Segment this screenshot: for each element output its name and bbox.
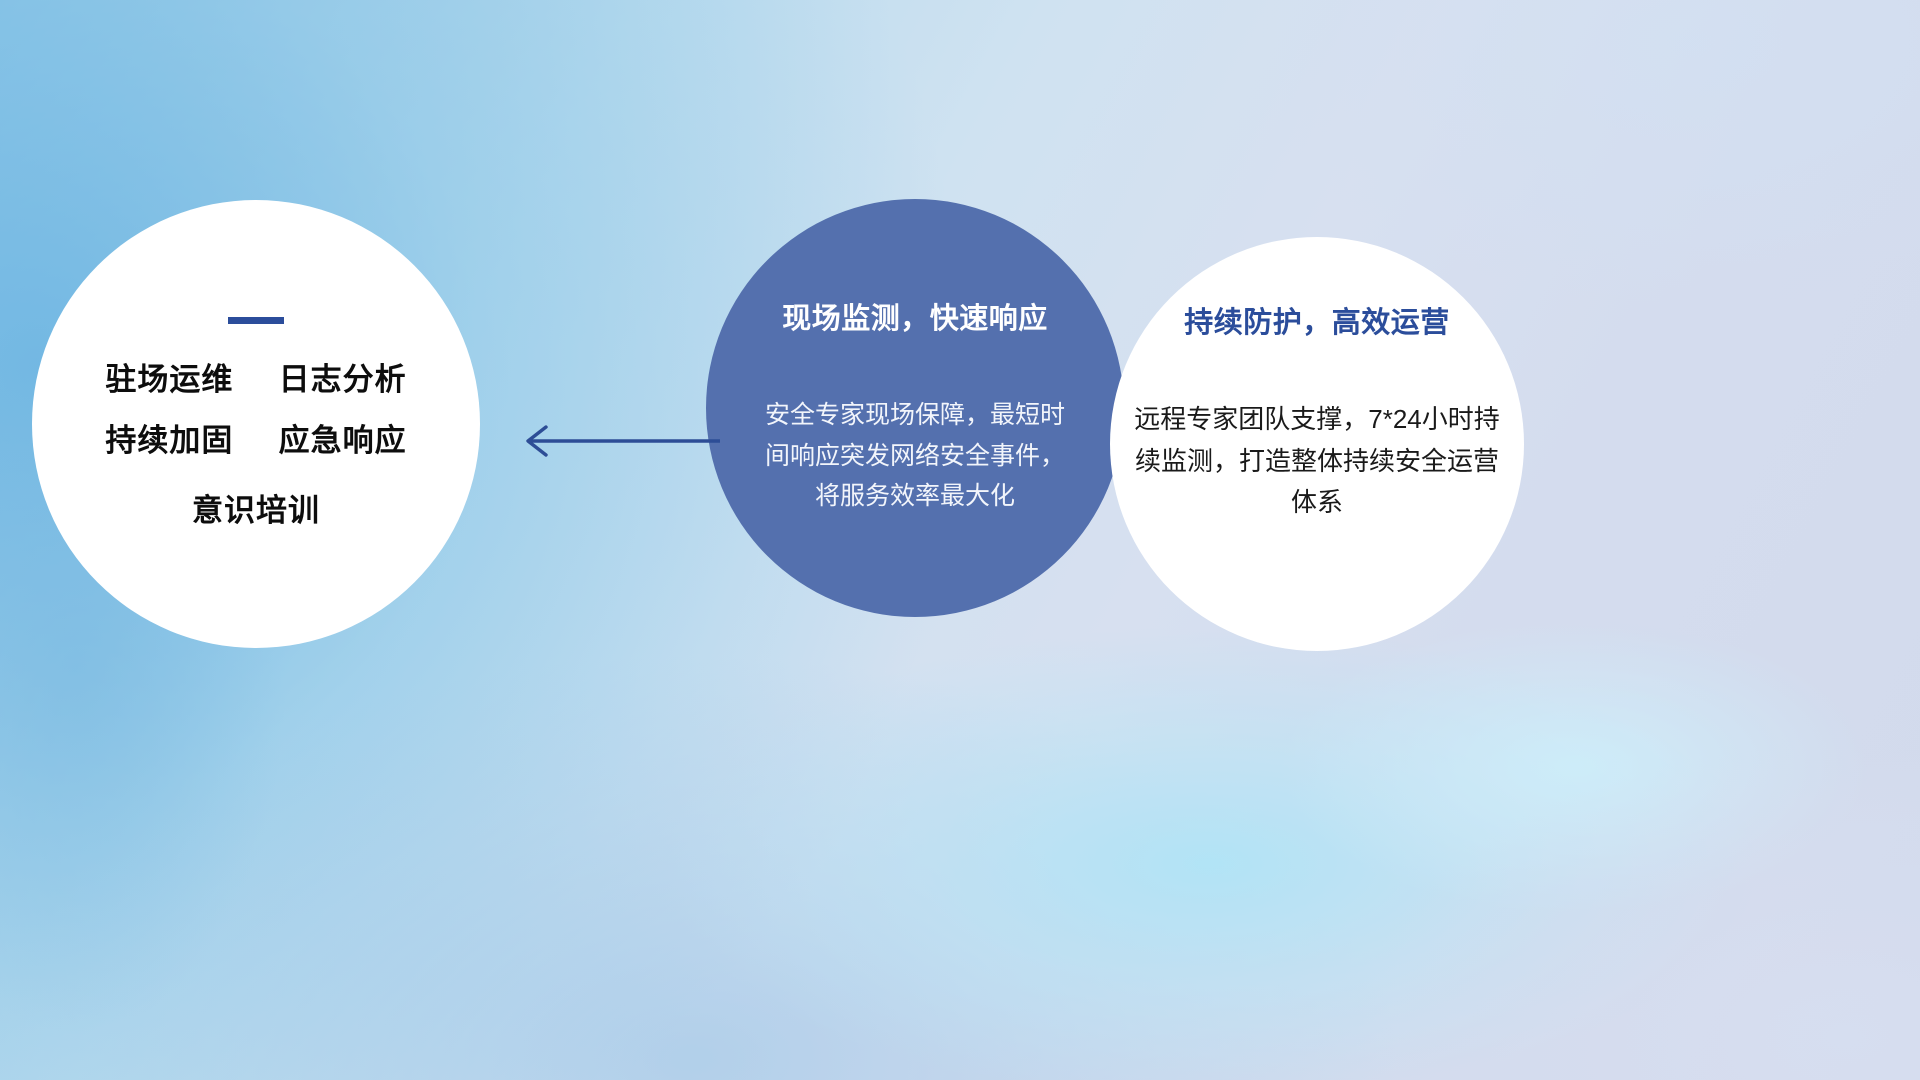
- keyword-row: 驻场运维 日志分析: [105, 360, 406, 400]
- keyword-item: 日志分析: [279, 362, 407, 397]
- continuous-protection-title: 持续防护，高效运营: [1184, 299, 1450, 341]
- keyword-item: 意识培训: [192, 493, 320, 528]
- keyword-row: 持续加固 应急响应: [105, 421, 406, 461]
- continuous-protection-circle: 持续防护，高效运营 远程专家团队支撑，7*24小时持续监测，打造整体持续安全运营…: [1110, 237, 1524, 651]
- keyword-item: 应急响应: [279, 423, 407, 458]
- arrow-left-icon: [494, 420, 720, 462]
- continuous-protection-body: 远程专家团队支撑，7*24小时持续监测，打造整体持续安全运营体系: [1130, 399, 1504, 524]
- accent-dash-icon: [228, 317, 284, 324]
- keyword-row: 意识培训: [192, 491, 320, 531]
- capabilities-circle: 驻场运维 日志分析 持续加固 应急响应 意识培训: [32, 200, 480, 648]
- onsite-monitoring-body: 安全专家现场保障，最短时间响应突发网络安全事件，将服务效率最大化: [765, 395, 1065, 517]
- keyword-item: 驻场运维: [105, 362, 233, 397]
- slide-canvas: 驻场运维 日志分析 持续加固 应急响应 意识培训 现场监测，快速响应 安全专家现…: [0, 0, 1920, 1080]
- keyword-item: 持续加固: [105, 423, 233, 458]
- onsite-monitoring-circle: 现场监测，快速响应 安全专家现场保障，最短时间响应突发网络安全事件，将服务效率最…: [706, 199, 1124, 617]
- onsite-monitoring-title: 现场监测，快速响应: [782, 295, 1048, 337]
